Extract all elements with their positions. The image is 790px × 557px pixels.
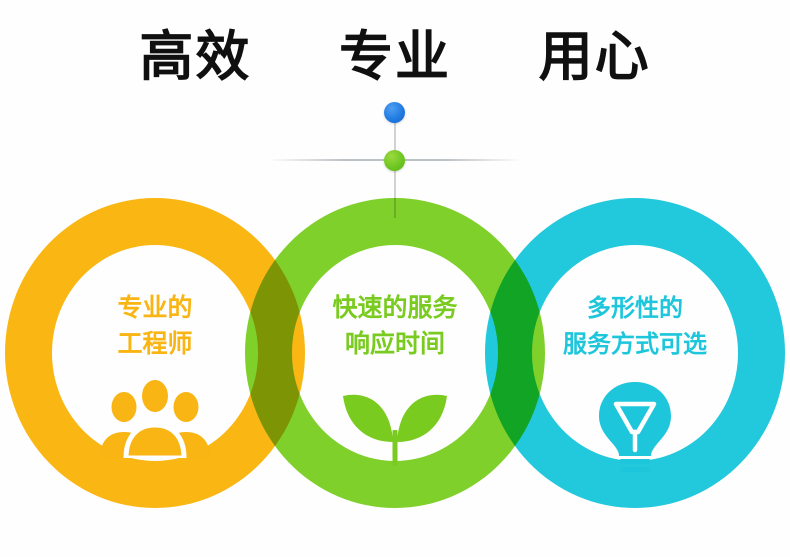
- ring-service-modes-outline: [485, 198, 785, 508]
- venn-rings-group: [0, 0, 790, 557]
- infographic-canvas: 高效 专业 用心 专业的 工程师: [0, 0, 790, 557]
